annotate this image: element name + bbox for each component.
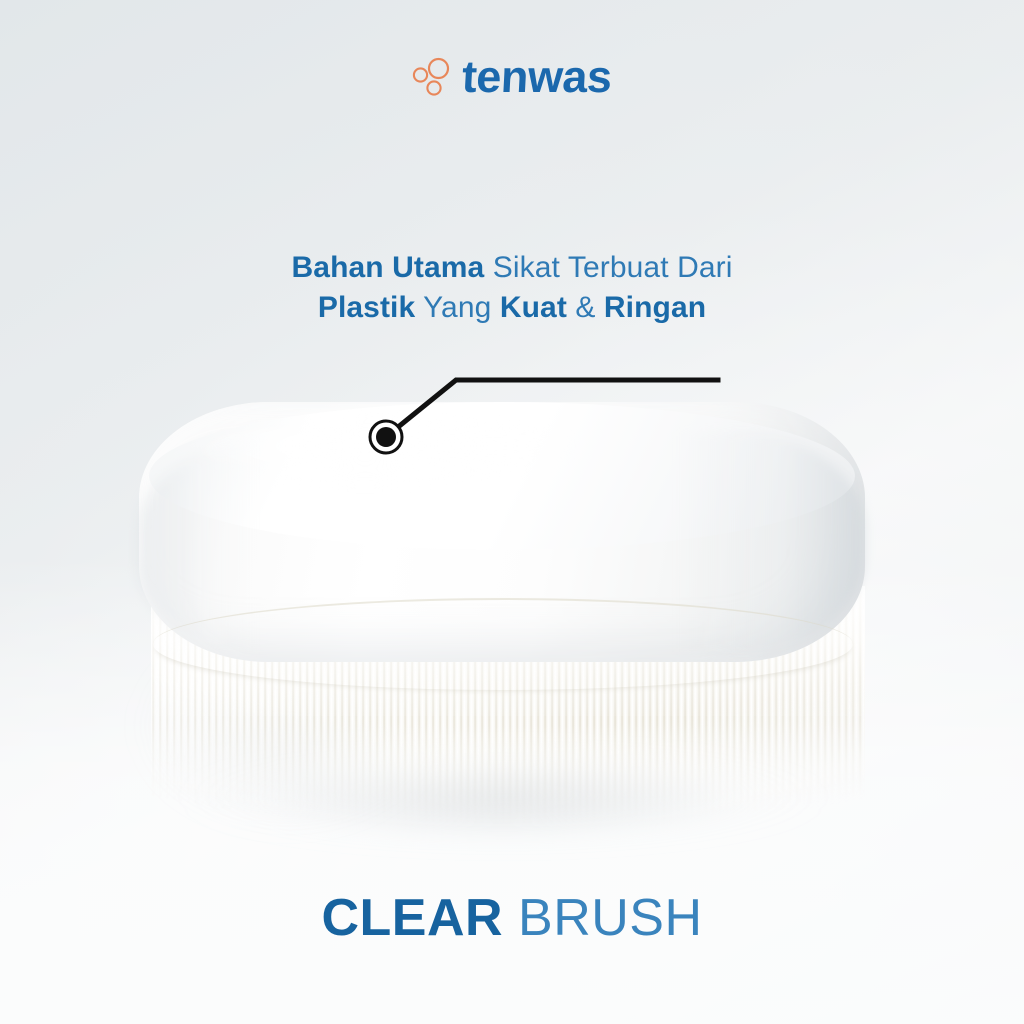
clear-brush-photo	[133, 376, 869, 856]
headline-line2-part-1: Yang	[415, 291, 500, 324]
headline-line2-part-3: &	[567, 291, 604, 324]
product-title-part-1: BRUSH	[503, 889, 702, 947]
brand-logo: tenwas	[0, 54, 1024, 99]
headline-line-1: Bahan Utama Sikat Terbuat Dari	[0, 248, 1024, 288]
product-marketing-banner: tenwas Bahan Utama Sikat Terbuat Dari Pl…	[0, 0, 1024, 1024]
headline-line2-part-0: Plastik	[318, 291, 415, 324]
handle-bristle-seam	[153, 598, 853, 690]
brush-handle	[139, 402, 865, 662]
headline-line-2: Plastik Yang Kuat & Ringan	[0, 288, 1024, 328]
product-title-part-0: CLEAR	[321, 889, 503, 947]
bristle-tip-fade	[151, 725, 865, 826]
handle-highlight	[197, 414, 617, 494]
headline-line1-part-1: Sikat Terbuat Dari	[484, 251, 732, 284]
headline-line2-part-2: Kuat	[500, 291, 567, 324]
bubbles-icon	[412, 56, 452, 98]
headline-line2-part-4: Ringan	[604, 291, 706, 324]
brand-name: tenwas	[461, 54, 613, 99]
headline: Bahan Utama Sikat Terbuat Dari Plastik Y…	[0, 248, 1024, 327]
product-title: CLEAR BRUSH	[0, 892, 1024, 944]
headline-line1-part-0: Bahan Utama	[292, 251, 485, 284]
